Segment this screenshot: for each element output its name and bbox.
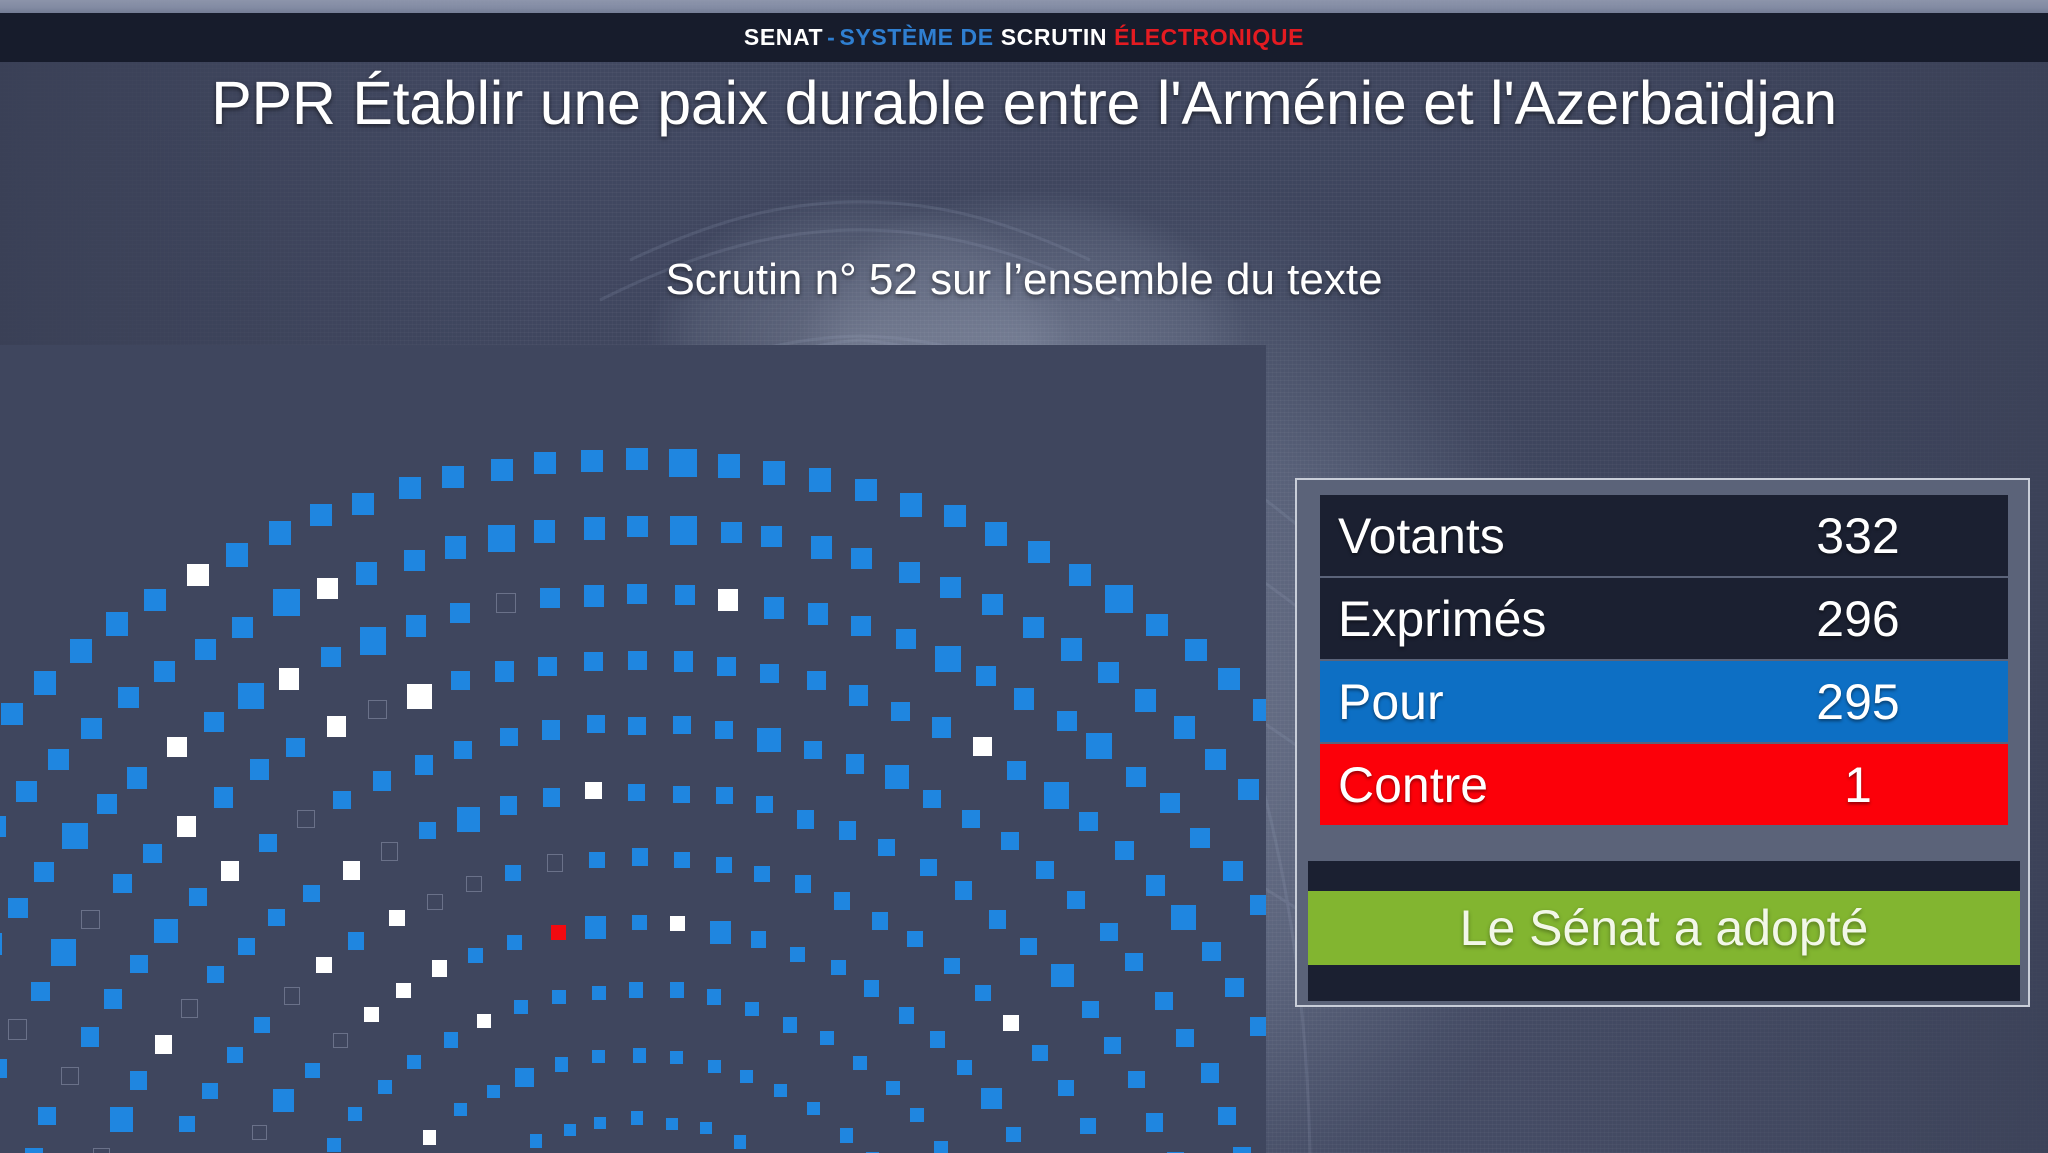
- seat-pour: [1218, 668, 1240, 690]
- seat-pour: [1036, 861, 1054, 879]
- panel-dark-band-bottom: [1308, 965, 2020, 1001]
- seat-pour: [584, 652, 603, 671]
- result-row-pour: Pour295: [1320, 661, 2008, 742]
- seat-empty: [333, 1033, 348, 1048]
- seat-pour: [110, 1107, 133, 1132]
- seat-pour: [348, 932, 364, 950]
- seat-pour: [834, 892, 850, 910]
- seat-pour: [1174, 716, 1195, 739]
- seat-pour: [1082, 1001, 1099, 1018]
- seat-pour: [1223, 861, 1243, 881]
- seat-pour: [935, 646, 961, 672]
- seat-pour: [962, 810, 980, 828]
- seat-pour: [154, 919, 178, 943]
- seat-pour: [487, 1085, 500, 1098]
- seat-pour: [932, 717, 951, 738]
- seat-pour: [808, 603, 828, 625]
- seat-pour: [179, 1116, 195, 1132]
- seat-pour: [118, 687, 139, 708]
- seat-pour: [975, 985, 991, 1001]
- seat-pour: [923, 790, 941, 808]
- seat-pour: [1104, 1037, 1121, 1054]
- page-subtitle: Scrutin n° 52 sur l’ensemble du texte: [0, 255, 2048, 305]
- seat-pour: [717, 657, 736, 676]
- seat-pour: [540, 588, 560, 608]
- seat-pour: [488, 525, 515, 552]
- result-label: Exprimés: [1320, 594, 1546, 644]
- banner-senat: SENAT: [744, 24, 823, 50]
- seat-pour: [495, 661, 514, 682]
- result-value: 332: [1708, 511, 2008, 561]
- seat-pour: [1238, 779, 1259, 800]
- seat-pour: [127, 767, 147, 789]
- seat-abstention: [973, 737, 992, 756]
- seat-pour: [585, 916, 606, 939]
- seat-pour: [878, 839, 895, 856]
- seat-pour: [202, 1083, 218, 1099]
- seat-pour: [899, 1007, 914, 1024]
- seat-pour: [348, 1107, 362, 1121]
- seat-contre: [551, 925, 566, 940]
- seat-pour: [710, 921, 731, 944]
- seat-pour: [1020, 938, 1037, 955]
- seat-pour: [0, 933, 2, 955]
- seat-pour: [1126, 767, 1146, 787]
- seat-pour: [985, 522, 1007, 546]
- seat-pour: [745, 1002, 759, 1016]
- seat-pour: [1069, 564, 1091, 586]
- seat-pour: [734, 1135, 746, 1149]
- seat-pour: [113, 874, 132, 893]
- seat-pour: [715, 721, 733, 739]
- result-label: Votants: [1320, 511, 1505, 561]
- seat-pour: [666, 1118, 678, 1130]
- seat-pour: [514, 1000, 528, 1014]
- seat-pour: [552, 990, 566, 1004]
- page-title: PPR Établir une paix durable entre l'Arm…: [0, 68, 2048, 138]
- hemicycle-panel: SÉNAT: [0, 345, 1266, 1153]
- seat-pour: [457, 807, 480, 832]
- seat-pour: [811, 536, 832, 559]
- result-label: Pour: [1320, 677, 1444, 727]
- seat-pour: [627, 516, 648, 537]
- seat-pour: [232, 617, 253, 638]
- seat-pour: [104, 989, 122, 1009]
- seat-pour: [250, 759, 269, 780]
- seat-pour: [143, 844, 162, 863]
- seat-empty: [61, 1067, 79, 1085]
- result-value: 1: [1708, 760, 2008, 810]
- seat-pour: [944, 505, 966, 527]
- seat-pour: [1135, 689, 1156, 712]
- results-panel: Votants332Exprimés296Pour295Contre1Le Sé…: [1295, 478, 2030, 1007]
- seat-pour: [1205, 749, 1226, 770]
- results-rows: Votants332Exprimés296Pour295Contre1Le Sé…: [1308, 491, 2017, 994]
- seat-empty: [466, 876, 482, 892]
- seat-pour: [333, 791, 351, 809]
- seat-abstention: [670, 916, 685, 931]
- seat-pour: [1160, 793, 1180, 813]
- seat-empty: [297, 810, 315, 828]
- seat-pour: [515, 1068, 534, 1087]
- seat-pour: [70, 639, 92, 663]
- seat-pour: [34, 671, 56, 695]
- seat-pour: [1190, 828, 1210, 848]
- seat-pour: [1128, 1071, 1145, 1088]
- seat-pour: [790, 947, 805, 962]
- seat-pour: [674, 651, 693, 672]
- seat-pour: [454, 1103, 467, 1116]
- result-value: 296: [1708, 594, 2008, 644]
- seat-pour: [1028, 541, 1050, 563]
- seat-pour: [1067, 891, 1085, 909]
- banner-text: SENAT-SYSTÈME DE SCRUTIN ÉLECTRONIQUE: [744, 24, 1304, 51]
- seat-pour: [407, 1055, 421, 1069]
- seat-pour: [25, 1148, 43, 1153]
- seat-pour: [1225, 978, 1244, 997]
- seat-pour: [352, 493, 374, 515]
- seat-pour: [718, 454, 740, 478]
- seat-pour: [632, 915, 647, 930]
- seat-pour: [751, 931, 766, 948]
- seat-abstention: [155, 1035, 172, 1054]
- verdict-banner: Le Sénat a adopté: [1308, 891, 2020, 965]
- seat-pour: [849, 685, 868, 706]
- seat-pour: [740, 1070, 753, 1083]
- result-label: Contre: [1320, 760, 1488, 810]
- seat-pour: [907, 931, 923, 947]
- seat-abstention: [407, 684, 432, 709]
- seat-pour: [708, 1060, 721, 1073]
- seat-pour: [451, 671, 470, 690]
- seat-pour: [989, 910, 1006, 929]
- seat-pour: [1032, 1045, 1048, 1061]
- seat-pour: [628, 717, 646, 735]
- seat-pour: [204, 712, 224, 732]
- seat-pour: [584, 517, 605, 540]
- seat-pour: [534, 452, 556, 474]
- seat-pour: [542, 720, 560, 740]
- seat-pour: [900, 493, 922, 517]
- seat-pour: [8, 898, 28, 918]
- seat-pour: [238, 683, 264, 709]
- seat-abstention: [317, 578, 338, 599]
- seat-pour: [589, 852, 605, 868]
- seat-pour: [629, 982, 643, 998]
- seat-pour: [1023, 617, 1044, 638]
- seat-pour: [1079, 812, 1098, 831]
- seat-pour: [581, 450, 603, 472]
- seat-pour: [555, 1057, 568, 1072]
- top-edge-strip: [0, 0, 2048, 13]
- seat-pour: [1001, 832, 1019, 850]
- seat-pour: [310, 504, 332, 526]
- seat-empty: [181, 999, 198, 1018]
- seat-pour: [81, 1027, 99, 1047]
- seat-pour: [807, 1102, 820, 1115]
- panel-dark-band-top: [1308, 861, 2020, 891]
- seat-pour: [1155, 992, 1173, 1010]
- banner-electronique: ÉLECTRONIQUE: [1114, 24, 1304, 50]
- panel-spacer: [1320, 827, 2008, 861]
- seat-pour: [976, 666, 996, 686]
- seat-pour: [286, 738, 305, 757]
- seat-abstention: [396, 983, 411, 998]
- seat-pour: [530, 1134, 542, 1148]
- seat-pour: [1146, 614, 1168, 636]
- seat-pour: [1146, 1113, 1163, 1132]
- seat-abstention: [279, 668, 299, 690]
- seat-pour: [1185, 639, 1207, 661]
- seat-pour: [1250, 1017, 1266, 1036]
- seat-empty: [284, 987, 300, 1005]
- seat-pour: [1201, 1063, 1219, 1083]
- result-value: 295: [1708, 677, 2008, 727]
- seat-pour: [855, 479, 877, 501]
- result-row-exprims: Exprimés296: [1320, 578, 2008, 659]
- seat-pour: [891, 702, 910, 721]
- result-row-contre: Contre1: [1320, 744, 2008, 825]
- seat-pour: [673, 716, 691, 734]
- seat-pour: [1080, 1118, 1096, 1134]
- seat-pour: [840, 1128, 853, 1143]
- seat-pour: [81, 718, 102, 739]
- seat-abstention: [423, 1130, 436, 1145]
- seat-pour: [130, 955, 148, 973]
- seat-pour: [442, 466, 464, 488]
- seat-empty: [427, 894, 443, 910]
- seat-pour: [305, 1063, 320, 1078]
- vote-result-screen: SENAT-SYSTÈME DE SCRUTIN ÉLECTRONIQUE PP…: [0, 0, 2048, 1153]
- seat-pour: [1007, 761, 1026, 780]
- seat-pour: [872, 912, 888, 930]
- seat-pour: [851, 548, 872, 569]
- seat-pour: [144, 589, 166, 611]
- seat-abstention: [718, 589, 738, 611]
- seat-pour: [885, 765, 909, 789]
- seat-pour: [154, 661, 175, 682]
- seat-empty: [381, 842, 398, 861]
- seat-pour: [34, 862, 54, 882]
- seat-pour: [406, 615, 426, 637]
- seat-pour: [1100, 923, 1118, 941]
- seat-pour: [130, 1071, 147, 1090]
- seat-pour: [16, 781, 37, 802]
- seat-pour: [955, 881, 972, 900]
- seat-pour: [592, 1050, 605, 1063]
- seat-pour: [1176, 1029, 1194, 1047]
- seat-empty: [252, 1125, 267, 1140]
- seat-pour: [259, 834, 277, 852]
- seat-pour: [500, 796, 517, 815]
- seat-pour: [930, 1031, 945, 1048]
- seat-pour: [763, 461, 785, 485]
- seat-pour: [592, 986, 606, 1000]
- seat-pour: [48, 749, 69, 770]
- seat-pour: [760, 664, 779, 683]
- seat-pour: [626, 448, 648, 470]
- seat-pour: [853, 1056, 867, 1070]
- seat-pour: [700, 1122, 712, 1134]
- seat-pour: [38, 1107, 56, 1125]
- seat-pour: [584, 585, 604, 607]
- seat-pour: [468, 948, 483, 963]
- seat-abstention: [177, 816, 196, 837]
- seat-pour: [896, 629, 916, 649]
- seat-pour: [0, 816, 6, 837]
- seat-empty: [547, 854, 563, 872]
- seat-abstention: [389, 910, 405, 926]
- seat-pour: [670, 516, 697, 545]
- seat-pour: [227, 1047, 243, 1063]
- seat-empty: [81, 910, 100, 929]
- seat-pour: [628, 651, 647, 670]
- seat-pour: [797, 810, 814, 829]
- seat-pour: [1171, 905, 1196, 930]
- seat-pour: [674, 852, 690, 868]
- seat-pour: [807, 671, 826, 690]
- seat-pour: [628, 784, 645, 801]
- seat-abstention: [343, 861, 360, 880]
- seat-pour: [1233, 1147, 1251, 1153]
- seat-abstention: [316, 957, 332, 973]
- seat-pour: [757, 728, 781, 752]
- seat-pour: [534, 520, 555, 543]
- seat-pour: [1202, 942, 1221, 961]
- seat-pour: [716, 787, 733, 804]
- seat-pour: [500, 728, 518, 746]
- seat-abstention: [187, 564, 209, 586]
- seat-pour: [594, 1117, 606, 1129]
- seat-pour: [538, 657, 557, 676]
- seat-pour: [783, 1017, 797, 1033]
- seat-pour: [670, 1051, 683, 1064]
- seat-pour: [268, 909, 285, 926]
- seat-pour: [1051, 964, 1074, 987]
- seat-pour: [716, 857, 732, 873]
- seat-pour: [669, 449, 697, 477]
- seat-pour: [1218, 1107, 1236, 1125]
- seat-pour: [399, 477, 421, 499]
- banner-systeme: SYSTÈME DE: [839, 24, 993, 50]
- seat-pour: [106, 612, 128, 636]
- seat-pour: [1044, 782, 1069, 809]
- seat-pour: [404, 550, 425, 571]
- seat-pour: [831, 960, 846, 975]
- seat-pour: [886, 1081, 900, 1095]
- seat-pour: [627, 584, 647, 604]
- seat-pour: [543, 788, 560, 807]
- seat-pour: [450, 603, 470, 623]
- seat-pour: [809, 468, 831, 492]
- seat-pour: [934, 1141, 948, 1153]
- seat-empty: [368, 700, 387, 719]
- seat-pour: [1061, 638, 1082, 661]
- seat-pour: [1006, 1127, 1021, 1142]
- seat-pour: [670, 982, 684, 998]
- seat-abstention: [167, 737, 187, 757]
- seat-pour: [944, 958, 960, 974]
- seat-abstention: [432, 960, 447, 977]
- seat-pour: [1014, 688, 1034, 710]
- seat-abstention: [364, 1007, 379, 1022]
- seat-pour: [97, 794, 117, 814]
- seat-pour: [505, 865, 521, 881]
- seat-pour: [1115, 841, 1134, 860]
- seat-pour: [1058, 1080, 1074, 1096]
- seat-pour: [756, 796, 773, 813]
- seat-pour: [226, 543, 248, 567]
- result-row-votants: Votants332: [1320, 495, 2008, 576]
- seat-pour: [820, 1031, 834, 1045]
- seat-pour: [633, 1048, 646, 1063]
- seat-pour: [721, 522, 742, 543]
- seat-pour: [195, 639, 216, 660]
- seat-pour: [269, 521, 291, 545]
- app-banner: SENAT-SYSTÈME DE SCRUTIN ÉLECTRONIQUE: [0, 13, 2048, 62]
- seat-pour: [1086, 733, 1112, 759]
- seat-pour: [491, 459, 513, 481]
- seat-pour: [795, 875, 811, 893]
- seat-pour: [373, 771, 391, 791]
- seat-pour: [507, 935, 522, 950]
- seat-pour: [851, 616, 871, 636]
- banner-scrutin: SCRUTIN: [1001, 24, 1107, 50]
- seat-pour: [910, 1108, 924, 1122]
- seat-pour: [415, 755, 433, 775]
- seat-abstention: [477, 1014, 491, 1028]
- seat-pour: [940, 577, 961, 598]
- seat-pour: [846, 754, 864, 774]
- seat-pour: [273, 1089, 294, 1112]
- seat-pour: [631, 1111, 643, 1125]
- seat-pour: [764, 597, 784, 619]
- seat-pour: [675, 585, 695, 605]
- seat-pour: [189, 888, 207, 906]
- seat-pour: [673, 786, 690, 803]
- seat-pour: [587, 715, 605, 733]
- seat-pour: [1125, 953, 1143, 971]
- seat-pour: [981, 1088, 1002, 1109]
- seat-pour: [454, 741, 472, 759]
- seat-pour: [920, 859, 937, 876]
- seat-pour: [864, 980, 879, 997]
- seat-pour: [632, 848, 648, 866]
- seat-pour: [564, 1124, 576, 1136]
- seat-pour: [214, 787, 233, 808]
- seat-pour: [899, 562, 920, 583]
- seat-pour: [1253, 699, 1267, 721]
- seat-pour: [1098, 662, 1119, 683]
- seat-pour: [982, 594, 1003, 615]
- seat-pour: [378, 1080, 392, 1094]
- seat-pour: [356, 562, 377, 585]
- seat-pour: [31, 982, 50, 1001]
- seat-pour: [761, 526, 782, 547]
- seat-pour: [1105, 585, 1133, 613]
- seat-pour: [839, 821, 856, 840]
- seat-pour: [1, 703, 23, 725]
- seat-empty: [496, 593, 516, 613]
- seat-abstention: [327, 716, 346, 737]
- hemicycle-seats: [0, 345, 1266, 1153]
- seat-pour: [254, 1017, 270, 1033]
- seat-pour: [804, 741, 822, 759]
- seat-pour: [445, 536, 466, 559]
- seat-pour: [273, 589, 300, 616]
- seat-empty: [8, 1019, 27, 1040]
- seat-pour: [707, 989, 721, 1005]
